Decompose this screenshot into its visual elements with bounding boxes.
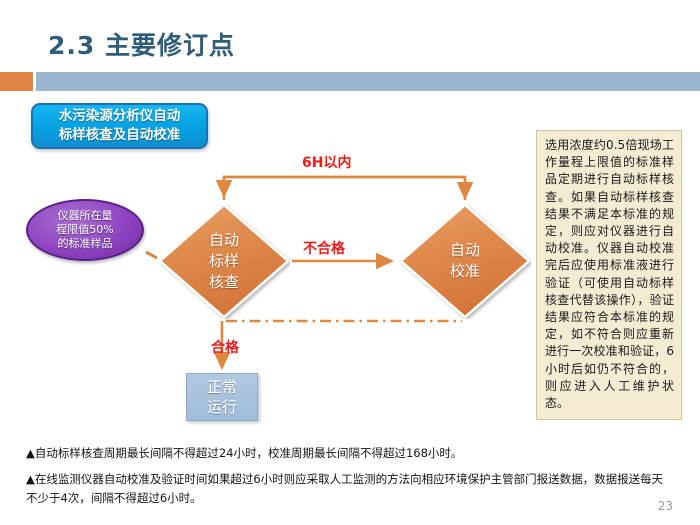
standard-sample-oval: 仪器所在量 程限值50% 的标准样品 (26, 199, 144, 261)
flow-node-normal-operation-label: 正常 运行 (207, 377, 237, 417)
side-note-text: 选用浓度约0.5倍现场工作量程上限值的标准样品定期进行自动标样核查。如果自动标样… (545, 137, 674, 412)
flow-node-auto-standard-check: 自动 标样 核查 (158, 203, 290, 319)
flow-node-auto-standard-check-label: 自动 标样 核查 (209, 230, 239, 293)
section-caption-label: 水污染源分析仪自动 标样核查及自动校准 (59, 107, 181, 145)
flow-node-auto-calibration: 自动 校准 (399, 203, 531, 319)
flow-label-fail: 不合格 (303, 238, 345, 258)
flow-label-pass: 合格 (211, 337, 239, 357)
footnote-interval-requirements: ▲自动标样核查周期最长间隔不得超过24小时，校准周期最长间隔不得超过168小时。 (26, 444, 666, 463)
flow-node-normal-operation: 正常 运行 (186, 373, 258, 421)
flow-label-feedback-time: 6H以内 (302, 152, 351, 172)
header-divider (0, 72, 700, 91)
standard-sample-label: 仪器所在量 程限值50% 的标准样品 (56, 209, 113, 251)
header-accent-block (0, 72, 33, 91)
side-note-panel: 选用浓度约0.5倍现场工作量程上限值的标准样品定期进行自动标样核查。如果自动标样… (536, 130, 682, 420)
flow-node-auto-calibration-label: 自动 校准 (450, 240, 480, 282)
header-bar (36, 72, 700, 91)
footnote-manual-reporting: ▲在线监测仪器自动校准及验证时间如果超过6小时则应采取人工监测的方法向相应环境保… (26, 470, 666, 508)
page-number: 23 (658, 499, 673, 513)
page-title: 2.3 主要修订点 (48, 26, 235, 62)
section-caption-box: 水污染源分析仪自动 标样核查及自动校准 (31, 103, 208, 149)
